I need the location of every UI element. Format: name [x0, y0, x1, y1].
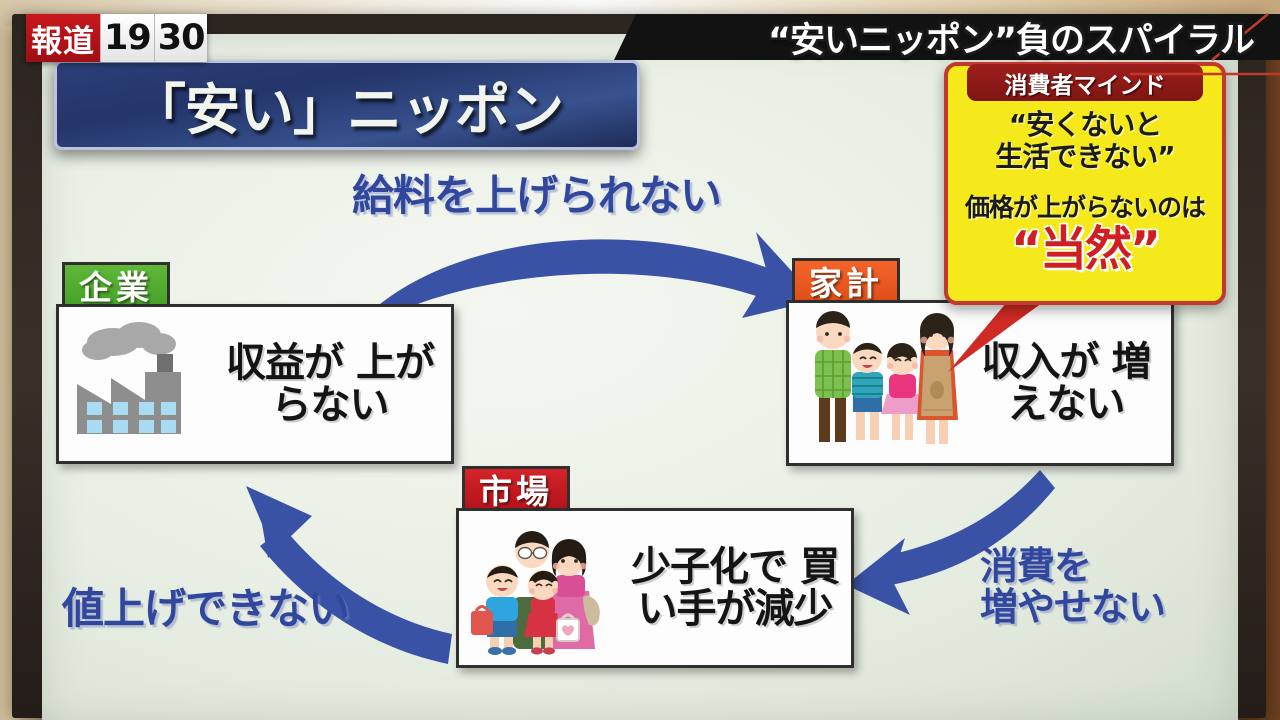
program-logo-minute: 30 [154, 14, 208, 62]
node-kigyo-tab: 企業 [62, 262, 170, 307]
program-logo-kanji: 報道 [26, 14, 100, 62]
family-icon [795, 306, 965, 460]
node-shijo-text: 少子化で 買い手が減少 [629, 546, 841, 631]
callout-quote-line1: “安くないと [948, 110, 1222, 141]
node-kakei-text: 収入が 増えない [971, 341, 1161, 426]
callout-header: 消費者マインド [967, 64, 1203, 101]
node-shijo-body: 少子化で 買い手が減少 [456, 508, 854, 668]
program-logo: 報道 19 30 [26, 14, 207, 62]
consumer-mind-callout[interactable]: 消費者マインド “安くないと 生活できない” 価格が上がらないのは “当然” [944, 62, 1226, 305]
node-kakei-tab: 家計 [792, 258, 900, 303]
page-title-plate: 「安い」ニッポン [54, 60, 640, 150]
arrow-label-shijo-to-kigyo: 値上げできない [62, 586, 349, 631]
arrow-label-kigyo-to-kakei: 給料を上げられない [352, 173, 721, 218]
node-kigyo-tab-label: 企業 [79, 261, 153, 309]
factory-icon [65, 316, 213, 452]
callout-quote-line2: 生活できない” [948, 142, 1222, 173]
callout-statement: 価格が上がらないのは [948, 194, 1222, 222]
node-kakei-body: 収入が 増えない [786, 300, 1174, 466]
node-kigyo-text: 収益が 上がらない [219, 342, 441, 427]
program-logo-hour: 19 [100, 14, 154, 62]
shopping-family-icon [465, 515, 623, 661]
node-shijo-tab-label: 市場 [479, 465, 553, 513]
node-kakei-tab-label: 家計 [809, 257, 883, 305]
node-shijo-tab: 市場 [462, 466, 570, 511]
page-title: 「安い」ニッポン [131, 65, 563, 145]
callout-emphasis: “当然” [948, 224, 1222, 276]
arrow-label-kakei-to-shijo: 消費を 増やせない [980, 546, 1165, 628]
studio-stage: 企業 [0, 0, 1280, 720]
banner-headline: “安いニッポン”負のスパイラル [714, 14, 1280, 60]
node-kigyo-body: 収益が 上がらない [56, 304, 454, 464]
